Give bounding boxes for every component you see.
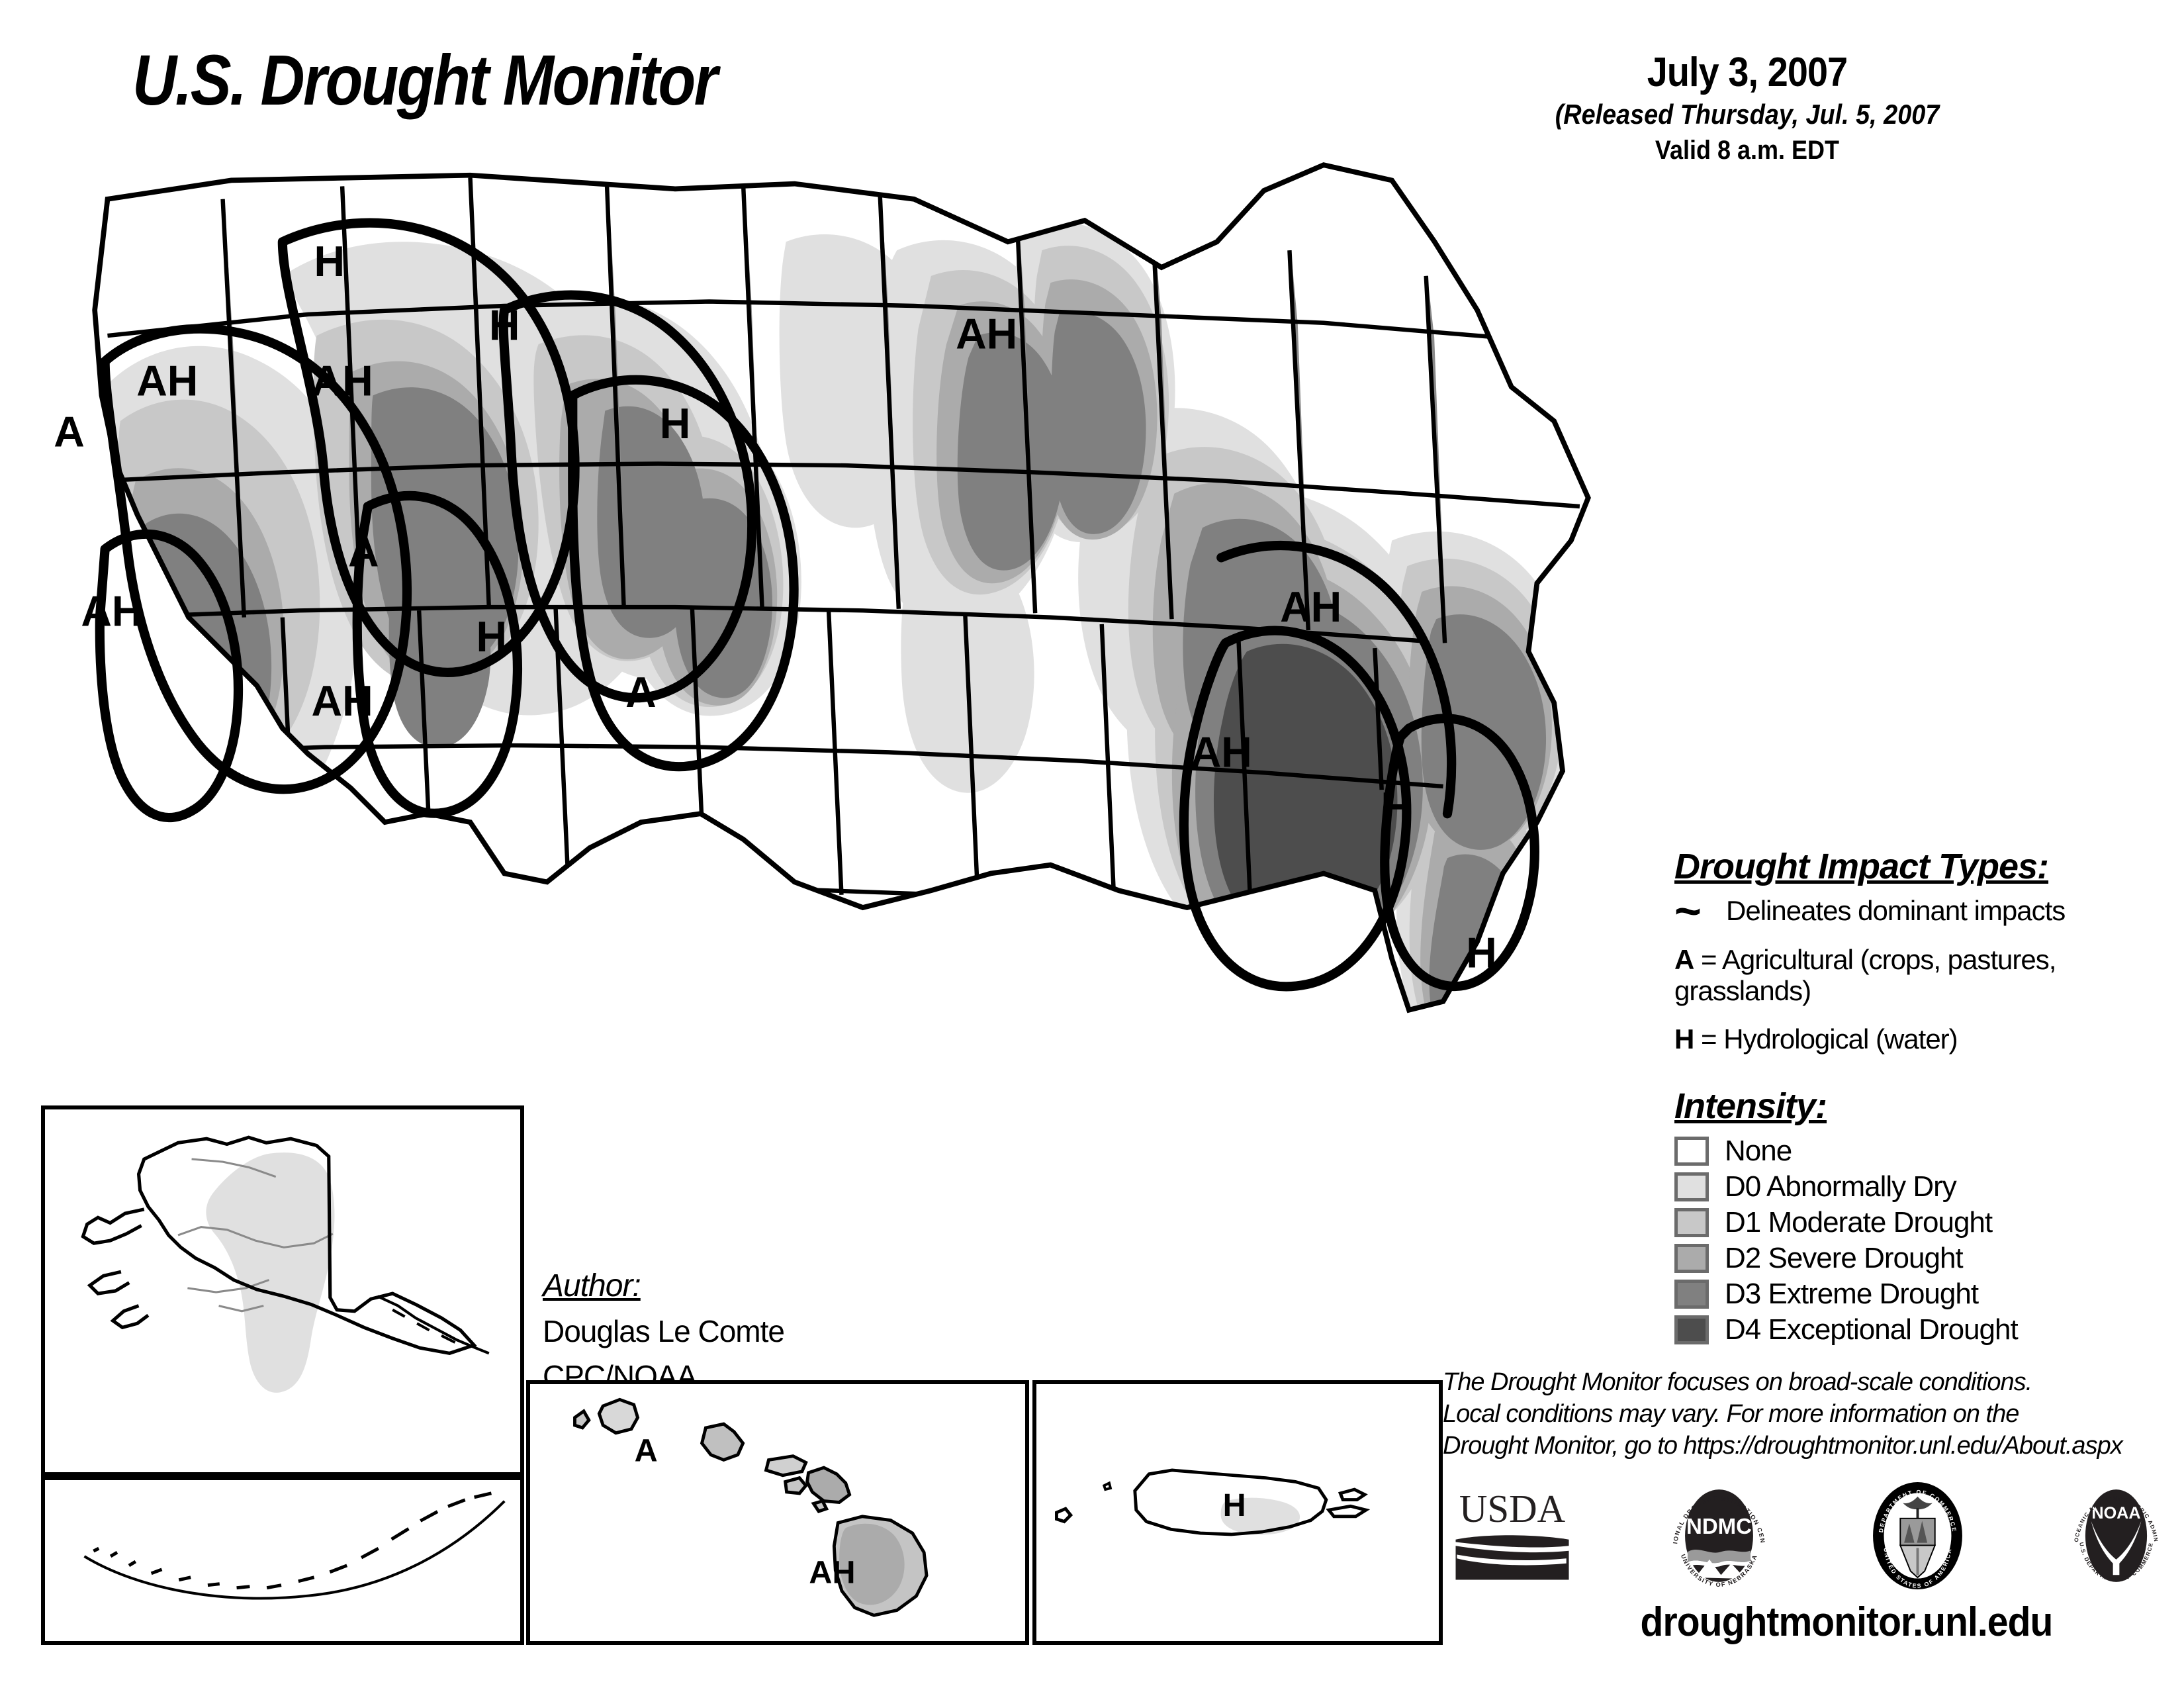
- intensity-swatch-d3: [1674, 1280, 1709, 1309]
- ndmc-logo-text: NDMC: [1686, 1514, 1752, 1538]
- intensity-label-d3: D3 Extreme Drought: [1725, 1278, 1978, 1311]
- intensity-legend: Intensity: NoneD0 Abnormally DryD1 Moder…: [1674, 1086, 2164, 1348]
- impact-label-colorado-kansas: A: [625, 669, 657, 716]
- intensity-swatch-d1: [1674, 1208, 1709, 1237]
- agricultural-definition: A = Agricultural (crops, pastures, grass…: [1674, 944, 2164, 1006]
- intensity-label-d4: D4 Exceptional Drought: [1725, 1313, 2018, 1346]
- noaa-logo: NOAA NATIONAL OCEANIC AND ATMOSPHERIC AD…: [2062, 1479, 2171, 1592]
- puerto-rico-inset-map: H: [1032, 1380, 1443, 1645]
- impact-label-montana-idaho-border: H: [489, 302, 520, 350]
- agency-logo-row: USDA NDMC NATIONAL DROUGHT MITIGATION CE…: [1449, 1476, 2171, 1595]
- intensity-item-d1: D1 Moderate Drought: [1674, 1205, 2164, 1241]
- intensity-label-d1: D1 Moderate Drought: [1725, 1206, 1992, 1239]
- disclaimer-text: The Drought Monitor focuses on broad-sca…: [1443, 1367, 2177, 1462]
- impact-legend-heading: Drought Impact Types:: [1674, 846, 2164, 887]
- alaska-inset-map: [41, 1105, 524, 1476]
- vieques-culebra: [1329, 1489, 1366, 1517]
- aleutians-inset-map: [41, 1476, 524, 1645]
- author-label: Author:: [543, 1268, 784, 1304]
- impact-label-oregon-nevada: AH: [136, 357, 198, 404]
- site-url: droughtmonitor.unl.edu: [1548, 1599, 2145, 1646]
- usda-logo: USDA: [1449, 1479, 1575, 1592]
- delineates-text: Delineates dominant impacts: [1726, 895, 2065, 927]
- disclaimer-line-3: Drought Monitor, go to https://droughtmo…: [1443, 1430, 2177, 1462]
- impact-label-big-island: AH: [809, 1555, 855, 1591]
- conus-drought-map: HHAHAHHAHAAAHHAHAAHAHHH: [26, 139, 1648, 1198]
- agricultural-text: = Agricultural (crops, pastures, grassla…: [1674, 944, 2056, 1006]
- intensity-legend-heading: Intensity:: [1674, 1086, 2164, 1127]
- impact-label-south-florida: H: [1466, 929, 1497, 976]
- drought-impact-types-legend: Drought Impact Types: ~ Delineates domin…: [1674, 846, 2164, 1055]
- impact-label-nevada-utah: A: [348, 528, 379, 575]
- author-name: Douglas Le Comte: [543, 1313, 784, 1349]
- page-title: U.S. Drought Monitor: [132, 38, 716, 121]
- impact-label-utah-colorado: H: [476, 613, 507, 661]
- desecheo-island: [1104, 1483, 1111, 1489]
- aleutian-shelf-line: [84, 1501, 504, 1599]
- hawaii-islands: [574, 1399, 927, 1615]
- intensity-item-d2: D2 Severe Drought: [1674, 1241, 2164, 1276]
- intensity-label-d0: D0 Abnormally Dry: [1725, 1170, 1956, 1203]
- hydrological-definition: H = Hydrological (water): [1674, 1023, 2164, 1055]
- impact-label-northern-idaho: H: [314, 238, 345, 285]
- intensity-swatch-none: [1674, 1137, 1709, 1166]
- hawaii-inset-map: AAH: [526, 1380, 1029, 1645]
- intensity-item-d0: D0 Abnormally Dry: [1674, 1169, 2164, 1205]
- impact-label-southern-idaho: AH: [312, 357, 373, 404]
- impact-label-tennessee-kentucky: AH: [1280, 583, 1342, 631]
- disclaimer-line-2: Local conditions may vary. For more info…: [1443, 1399, 2177, 1430]
- intensity-swatch-d4: [1674, 1315, 1709, 1344]
- intensity-swatch-list: NoneD0 Abnormally DryD1 Moderate Drought…: [1674, 1133, 2164, 1348]
- impact-label-alabama: AH: [1191, 728, 1252, 776]
- intensity-swatch-d0: [1674, 1172, 1709, 1201]
- aleutian-chain: [93, 1493, 491, 1588]
- release-date: (Released Thursday, Jul. 5, 2007: [1509, 99, 1985, 130]
- intensity-label-d2: D2 Severe Drought: [1725, 1242, 1963, 1275]
- hydrological-key: H: [1674, 1023, 1694, 1055]
- impact-label-arizona: AH: [312, 677, 373, 725]
- mona-island: [1056, 1509, 1070, 1521]
- intensity-item-d3: D3 Extreme Drought: [1674, 1276, 2164, 1312]
- disclaimer-line-1: The Drought Monitor focuses on broad-sca…: [1443, 1367, 2177, 1399]
- impact-label-wyoming: H: [660, 400, 691, 447]
- author-block: Author: Douglas Le Comte CPC/NOAA: [543, 1268, 784, 1394]
- impact-label-kauai: A: [635, 1432, 658, 1468]
- ndmc-logo: NDMC NATIONAL DROUGHT MITIGATION CENTER …: [1664, 1479, 1774, 1592]
- intensity-label-none: None: [1725, 1135, 1792, 1168]
- impact-label-minnesota-wisconsin: AH: [956, 310, 1017, 357]
- intensity-swatch-d2: [1674, 1244, 1709, 1273]
- intensity-item-none: None: [1674, 1133, 2164, 1169]
- hydrological-text: = Hydrological (water): [1701, 1023, 1958, 1055]
- agricultural-key: A: [1674, 944, 1694, 975]
- impact-label-southern-california: AH: [81, 588, 142, 635]
- tilde-contour-icon: ~: [1674, 897, 1726, 925]
- intensity-item-d4: D4 Exceptional Drought: [1674, 1312, 2164, 1348]
- impact-label-georgia: H: [1381, 784, 1412, 831]
- doc-seal-logo: DEPARTMENT OF COMMERCE UNITED STATES OF …: [1863, 1479, 1972, 1592]
- usda-logo-text: USDA: [1459, 1487, 1566, 1530]
- delineates-row: ~ Delineates dominant impacts: [1674, 895, 2164, 927]
- impact-label-puerto-rico: H: [1223, 1487, 1246, 1523]
- puerto-rico-labels: H: [1223, 1487, 1246, 1523]
- impact-label-northern-california: A: [54, 408, 85, 456]
- map-date: July 3, 2007: [1509, 52, 1985, 93]
